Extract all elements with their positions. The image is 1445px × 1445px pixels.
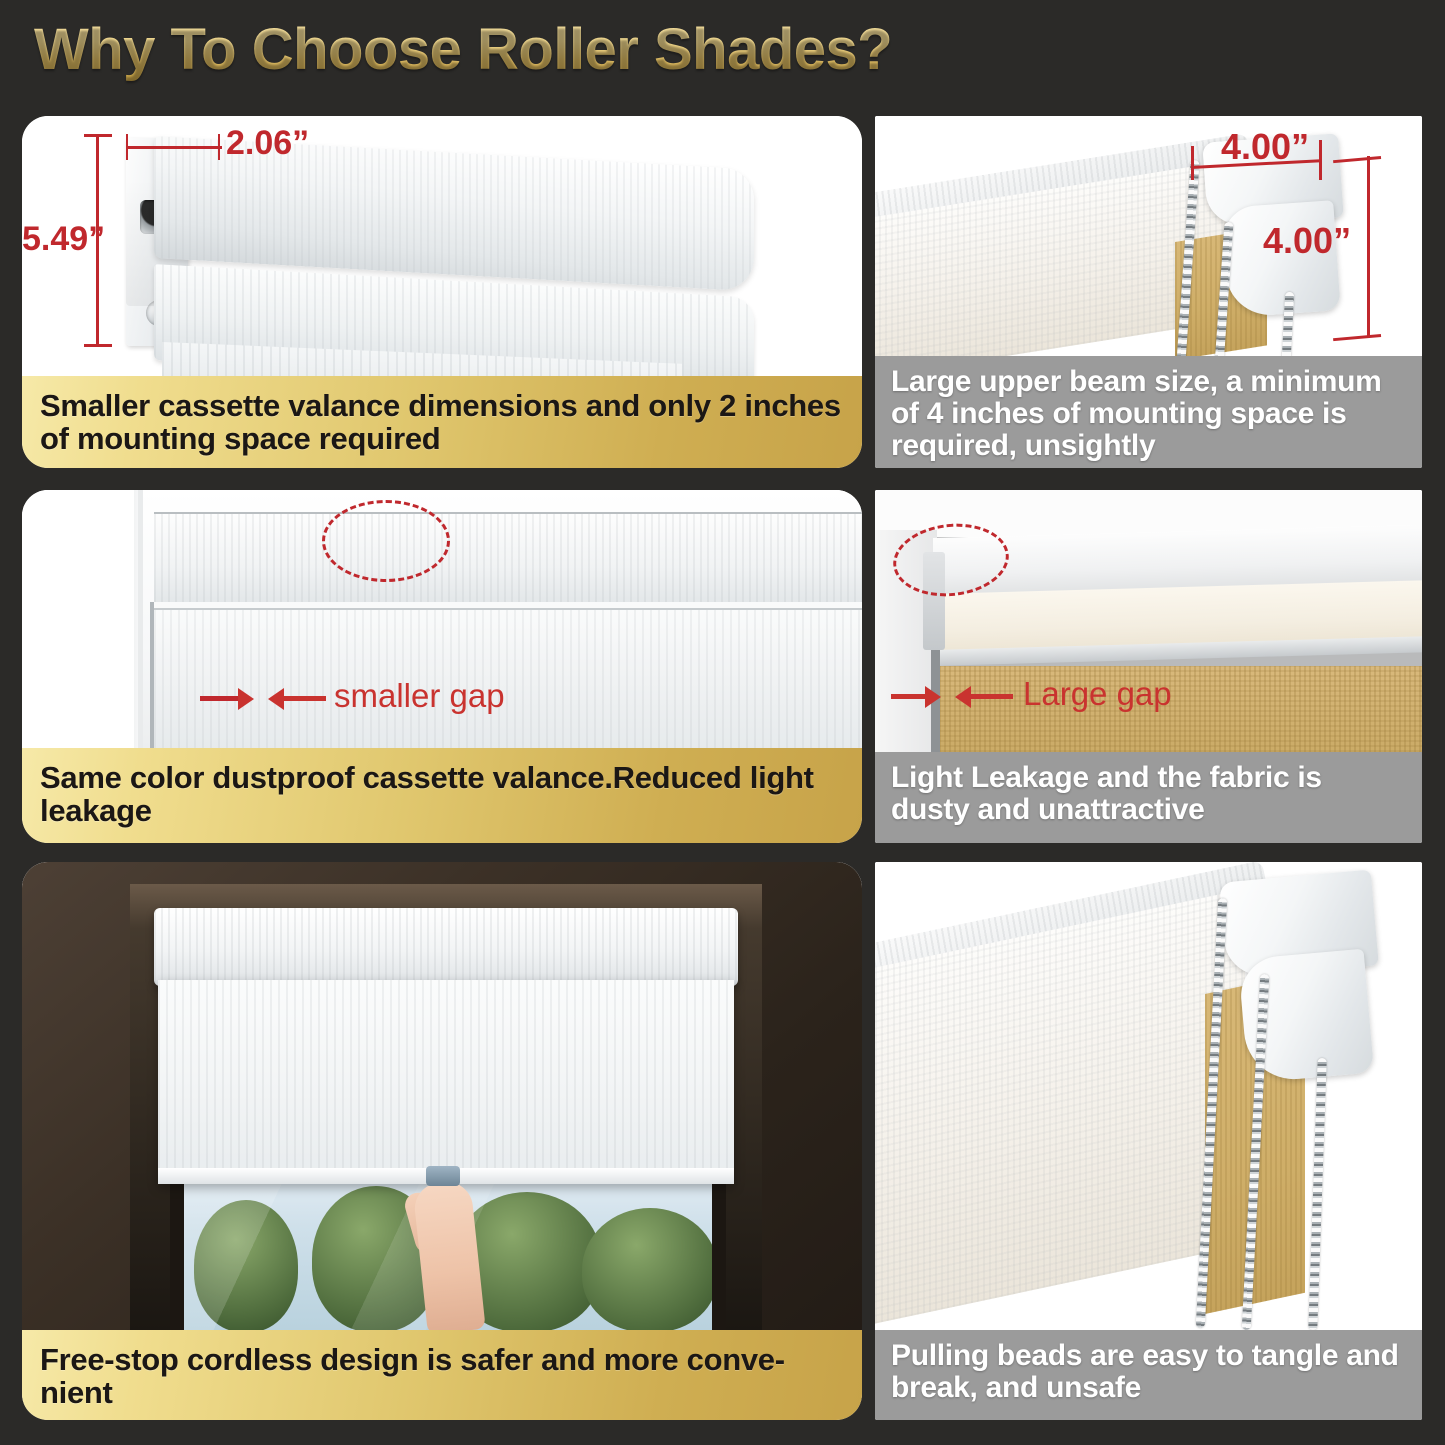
window-mullion-right: [712, 1182, 726, 1330]
feature-panel-pulling-beads: Pulling beads are easy to tangle and bre…: [875, 862, 1422, 1420]
panel-caption-bar: Light Leakage and the fabric is dusty an…: [875, 752, 1422, 843]
gap-arrow-right-shaft: [971, 694, 1013, 699]
beam-height-label: 4.00”: [1263, 220, 1351, 262]
beam-width-tick-left: [1191, 146, 1194, 180]
feature-panel-cordless-design: Free-stop cordless design is safer and m…: [22, 862, 862, 1420]
beam-height-tick-top: [1333, 156, 1381, 163]
beam-height-tick-bottom: [1333, 334, 1381, 341]
gap-arrow-left-shaft: [891, 694, 929, 699]
product-photo-large-gap: Large gap: [875, 490, 1422, 752]
panel-caption-text: Free-stop cordless design is safer and m…: [40, 1344, 844, 1410]
shade-fabric: [154, 608, 862, 748]
window-mullion-left: [170, 1182, 184, 1330]
product-photo-cordless-window: [22, 862, 862, 1330]
white-shade-fabric: [875, 889, 1245, 1330]
gap-arrow-left-head: [925, 686, 941, 708]
feature-panel-smaller-cassette: 2.06” 5.49” Smaller cassette valance dim…: [22, 116, 862, 468]
cassette-valance: [154, 512, 862, 602]
gap-arrow-right-head: [268, 688, 284, 710]
panel-caption-text: Light Leakage and the fabric is dusty an…: [891, 762, 1408, 826]
panel-caption-bar: Same color dustproof cassette valance.Re…: [22, 748, 862, 843]
gap-arrow-left-shaft: [200, 696, 242, 701]
feature-panel-large-upper-beam: 4.00” 4.00” Large upper beam size, a min…: [875, 116, 1422, 468]
panel-caption-bar: Pulling beads are easy to tangle and bre…: [875, 1330, 1422, 1420]
bead-chain-right: [1308, 1058, 1326, 1330]
gap-arrow-right-shaft: [284, 696, 326, 701]
panel-caption-bar: Large upper beam size, a minimum of 4 in…: [875, 356, 1422, 468]
product-photo-large-beam: 4.00” 4.00”: [875, 116, 1422, 356]
shade-fabric: [158, 980, 734, 1184]
height-dim-tick-top: [84, 134, 112, 137]
gap-callout-label: Large gap: [1023, 675, 1172, 713]
tan-shade-fabric: [939, 666, 1422, 752]
width-dim-line: [126, 146, 222, 149]
gap-arrow-left-head: [238, 688, 254, 710]
panel-caption-text: Same color dustproof cassette valance.Re…: [40, 762, 844, 828]
feature-panel-dustproof-valance: smaller gap Same color dustproof cassett…: [22, 490, 862, 843]
header-bar: Why To Choose Roller Shades?: [0, 0, 1445, 104]
panel-caption-bar: Free-stop cordless design is safer and m…: [22, 1330, 862, 1420]
panel-caption-text: Smaller cassette valance dimensions and …: [40, 390, 844, 456]
beam-width-label: 4.00”: [1221, 126, 1309, 168]
height-dim-tick-bottom: [84, 344, 112, 347]
gap-edge: [150, 602, 154, 748]
beam-height-line: [1367, 156, 1370, 336]
width-dimension-label: 2.06”: [226, 124, 309, 163]
feature-panel-light-leakage: Large gap Light Leakage and the fabric i…: [875, 490, 1422, 843]
product-photo-smaller-gap: smaller gap: [22, 490, 862, 748]
panel-caption-text: Large upper beam size, a minimum of 4 in…: [891, 366, 1408, 461]
cassette-valance: [154, 908, 738, 986]
gap-callout-label: smaller gap: [334, 677, 505, 715]
pull-tab-handle: [426, 1166, 460, 1186]
product-photo-bead-chain: [875, 862, 1422, 1330]
height-dimension-label: 5.49”: [22, 220, 92, 259]
product-photo-cassette-valance: 2.06” 5.49”: [22, 116, 862, 376]
page-title: Why To Choose Roller Shades?: [34, 16, 892, 83]
highlight-ellipse: [322, 500, 450, 582]
panel-caption-text: Pulling beads are easy to tangle and bre…: [891, 1340, 1408, 1404]
gap-arrow-right-head: [955, 686, 971, 708]
panel-caption-bar: Smaller cassette valance dimensions and …: [22, 376, 862, 468]
